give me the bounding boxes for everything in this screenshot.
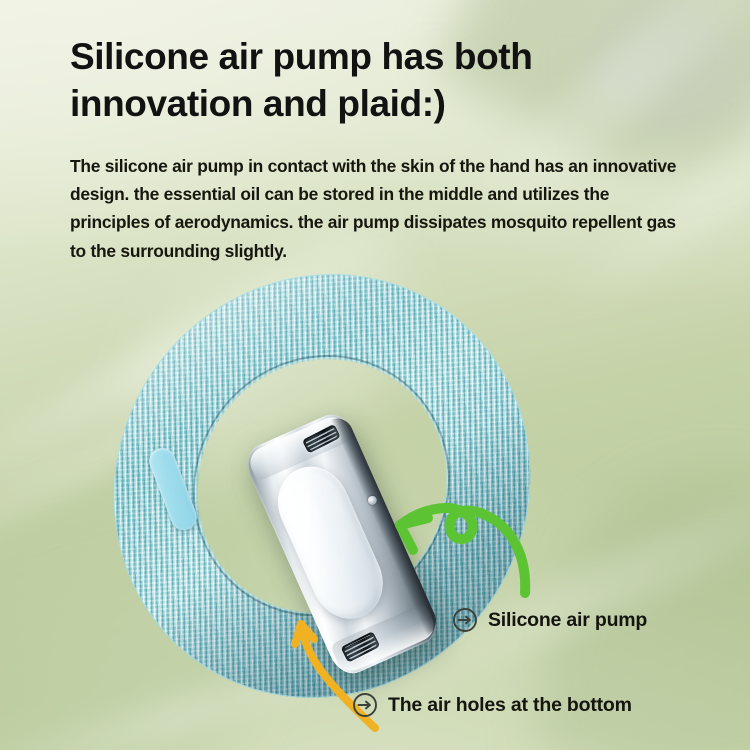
- annotation-label-text: Silicone air pump: [488, 609, 647, 632]
- product-photo: [0, 268, 750, 750]
- description-paragraph: The silicone air pump in contact with th…: [70, 152, 685, 265]
- circle-arrow-right-icon: [352, 692, 378, 718]
- circle-arrow-right-icon: [452, 607, 478, 633]
- annotation-label-text: The air holes at the bottom: [388, 694, 632, 717]
- annotation-air-holes: The air holes at the bottom: [352, 692, 632, 718]
- page-headline: Silicone air pump has both innovation an…: [70, 34, 670, 128]
- product-feature-page: Silicone air pump has both innovation an…: [0, 0, 750, 750]
- annotation-silicone-air-pump: Silicone air pump: [452, 607, 647, 633]
